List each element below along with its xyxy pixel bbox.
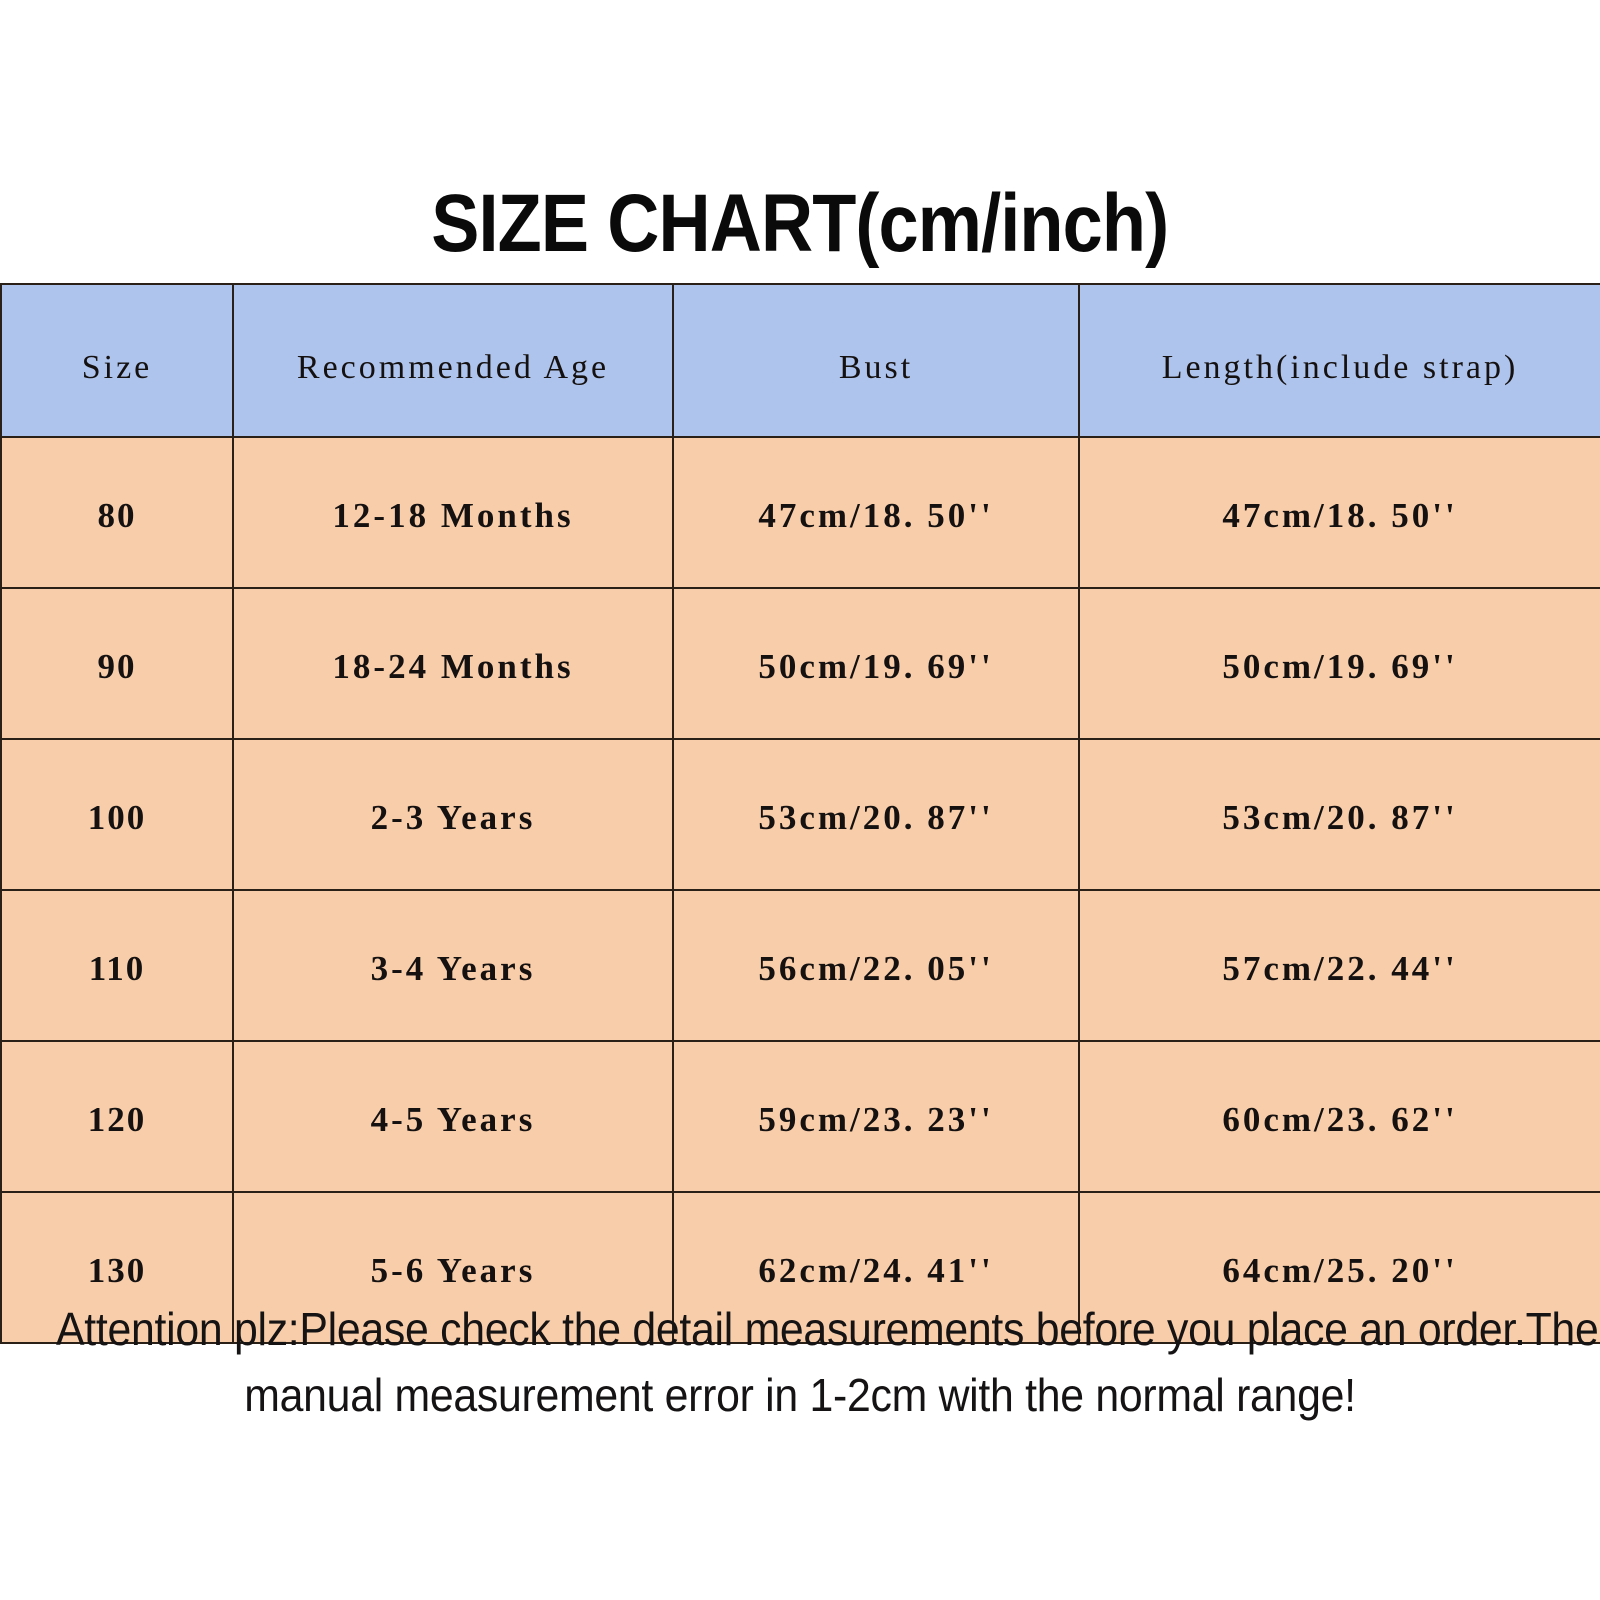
cell-size: 80 [1,437,233,588]
table-header: Size Recommended Age Bust Length(include… [1,284,1600,437]
column-header-bust: Bust [673,284,1079,437]
table-row: 80 12-18 Months 47cm/18. 50'' 47cm/18. 5… [1,437,1600,588]
table-header-row: Size Recommended Age Bust Length(include… [1,284,1600,437]
attention-note-line-2: manual measurement error in 1-2cm with t… [56,1362,1544,1428]
cell-size: 110 [1,890,233,1041]
cell-length: 47cm/18. 50'' [1079,437,1600,588]
cell-age: 12-18 Months [233,437,673,588]
cell-age: 4-5 Years [233,1041,673,1192]
column-header-age: Recommended Age [233,284,673,437]
column-header-length: Length(include strap) [1079,284,1600,437]
cell-bust: 47cm/18. 50'' [673,437,1079,588]
table-row: 120 4-5 Years 59cm/23. 23'' 60cm/23. 62'… [1,1041,1600,1192]
table-row: 100 2-3 Years 53cm/20. 87'' 53cm/20. 87'… [1,739,1600,890]
cell-length: 53cm/20. 87'' [1079,739,1600,890]
cell-size: 100 [1,739,233,890]
table-body: 80 12-18 Months 47cm/18. 50'' 47cm/18. 5… [1,437,1600,1343]
cell-length: 57cm/22. 44'' [1079,890,1600,1041]
size-chart-table: Size Recommended Age Bust Length(include… [0,283,1600,1344]
column-header-size: Size [1,284,233,437]
cell-bust: 56cm/22. 05'' [673,890,1079,1041]
cell-length: 60cm/23. 62'' [1079,1041,1600,1192]
cell-age: 2-3 Years [233,739,673,890]
cell-size: 120 [1,1041,233,1192]
cell-bust: 50cm/19. 69'' [673,588,1079,739]
cell-length: 50cm/19. 69'' [1079,588,1600,739]
cell-age: 18-24 Months [233,588,673,739]
cell-age: 3-4 Years [233,890,673,1041]
table-row: 90 18-24 Months 50cm/19. 69'' 50cm/19. 6… [1,588,1600,739]
page-title: SIZE CHART(cm/inch) [431,176,1168,272]
cell-bust: 59cm/23. 23'' [673,1041,1079,1192]
cell-size: 90 [1,588,233,739]
attention-note-line-1: Attention plz:Please check the detail me… [56,1296,1544,1362]
size-chart-page: SIZE CHART(cm/inch) Size Recommended Age… [0,0,1600,1600]
table-row: 110 3-4 Years 56cm/22. 05'' 57cm/22. 44'… [1,890,1600,1041]
attention-note: Attention plz:Please check the detail me… [0,1296,1600,1428]
page-title-container: SIZE CHART(cm/inch) [0,176,1600,272]
cell-bust: 53cm/20. 87'' [673,739,1079,890]
